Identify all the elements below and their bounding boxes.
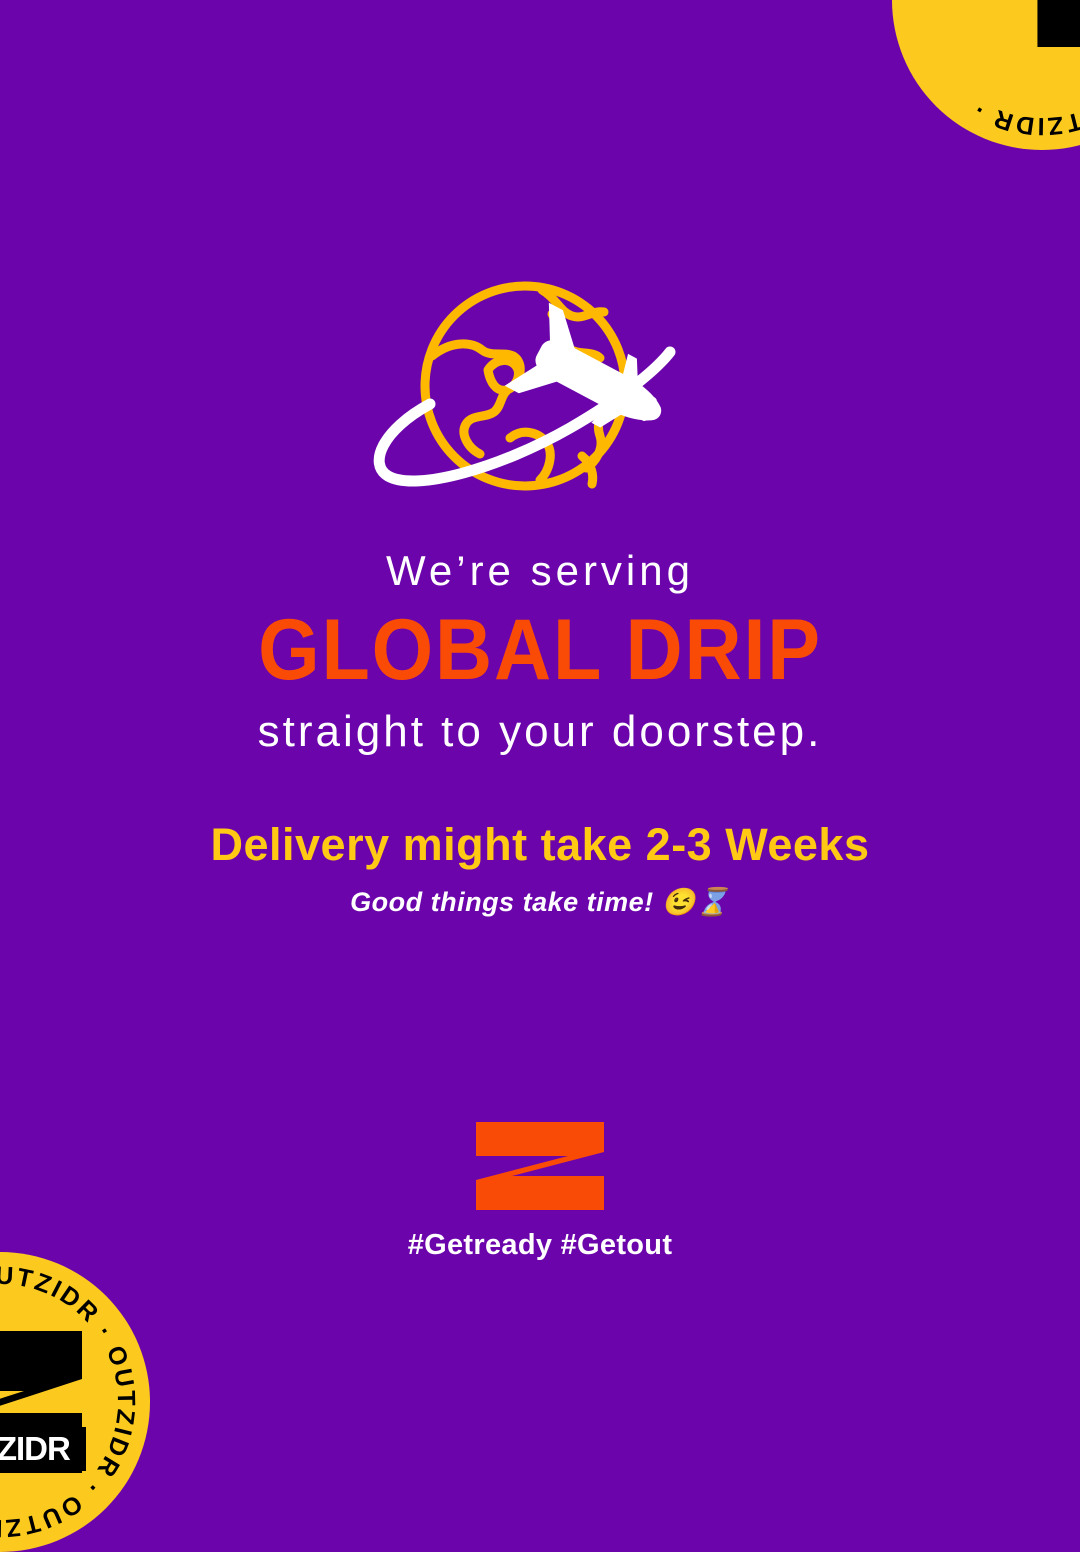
headline-block: We’re serving GLOBAL DRIP straight to yo…: [0, 545, 1080, 759]
brand-badge-top-right: OUTZIDR · OUTZIDR · OUTZIDR · OUTZIDR · …: [892, 0, 1080, 150]
badge-core-top-right: OUTZIDR: [1031, 0, 1080, 51]
delivery-estimate-text: Delivery might take 2-3 Weeks: [0, 818, 1080, 872]
badge-core-bottom-left: OUTZIDR: [0, 1327, 88, 1477]
z-logo-icon: [1031, 0, 1080, 51]
badge-wordmark: OUTZIDR: [0, 1427, 86, 1471]
hashtags-text: #Getready #Getout: [0, 1229, 1080, 1262]
footer-brand-block: #Getready #Getout: [0, 1122, 1080, 1262]
z-logo-icon: [476, 1122, 604, 1210]
brand-badge-bottom-left: OUTZIDR · OUTZIDR · OUTZIDR · OUTZIDR · …: [0, 1252, 150, 1552]
delivery-note-text: Good things take time! 😉⌛: [0, 886, 1080, 918]
page-title: GLOBAL DRIP: [43, 602, 1037, 698]
delivery-info-block: Delivery might take 2-3 Weeks Good thing…: [0, 818, 1080, 918]
subheadline-text: straight to your doorstep.: [0, 704, 1080, 759]
globe-airplane-icon: [360, 278, 720, 513]
eyebrow-text: We’re serving: [0, 545, 1080, 598]
